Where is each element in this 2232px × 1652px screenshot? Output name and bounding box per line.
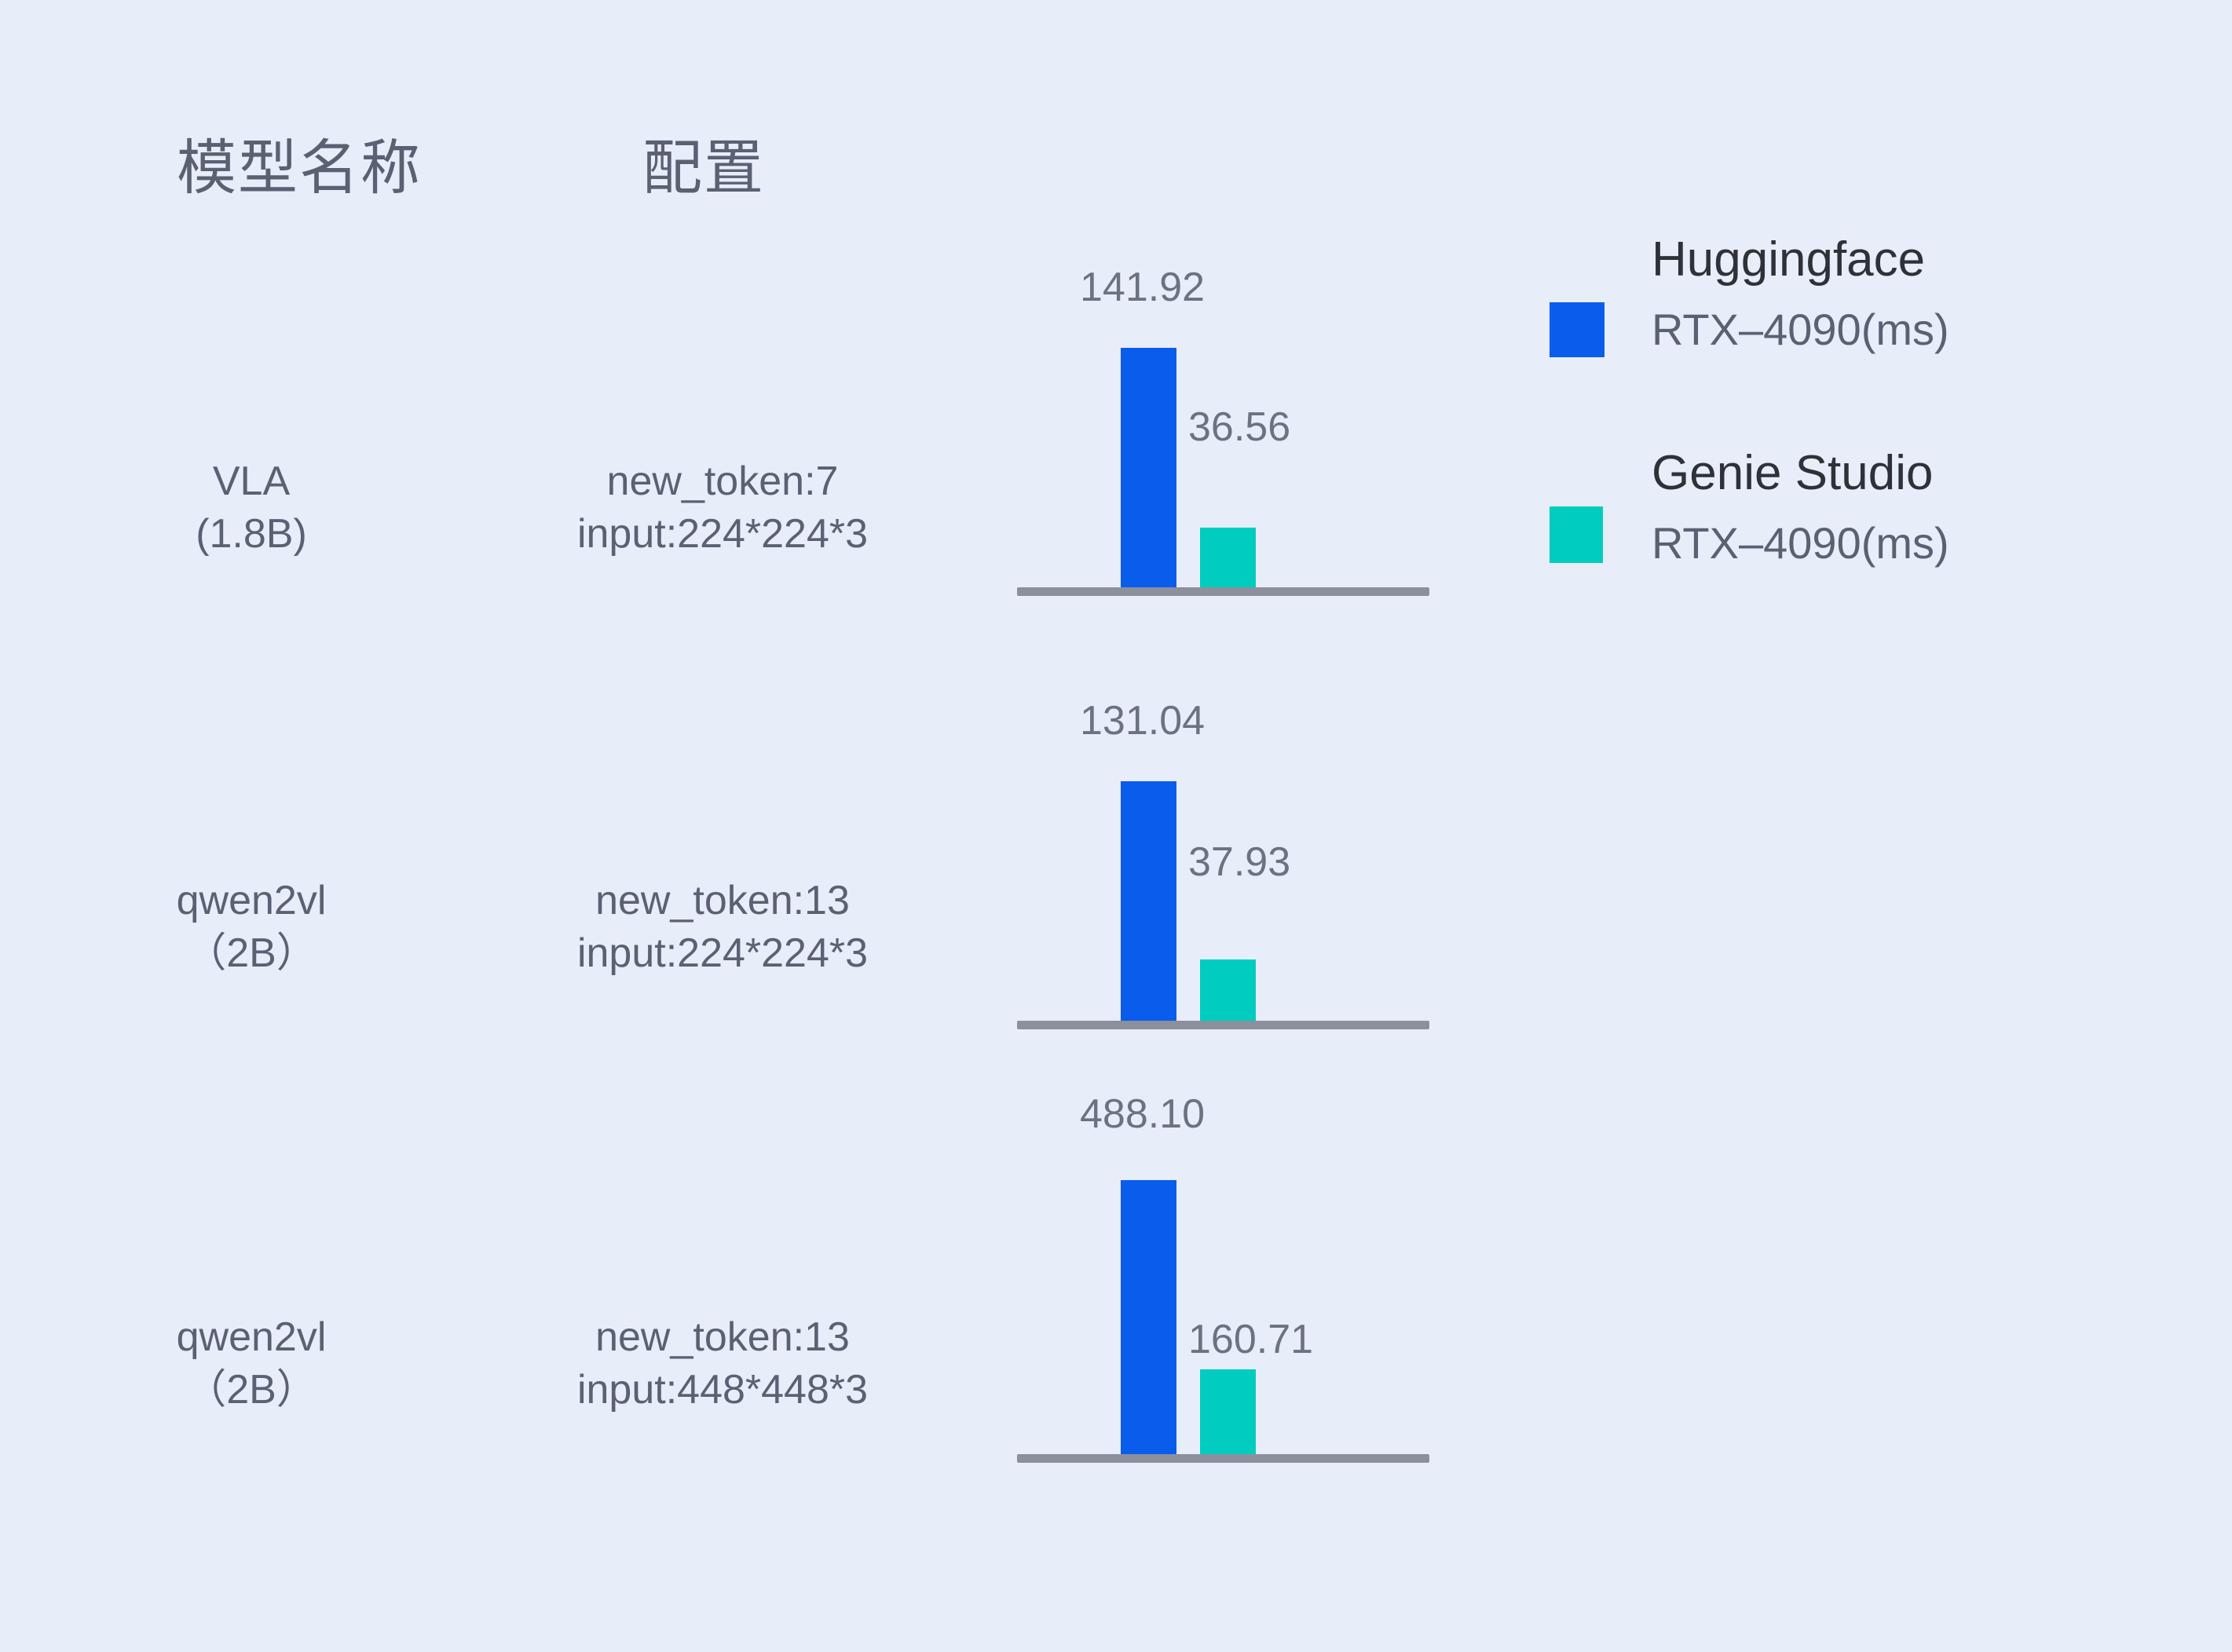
row-model-name: VLA (1.8B): [134, 455, 369, 560]
bar-huggingface[interactable]: [1121, 1180, 1176, 1462]
bar-genie-studio[interactable]: [1200, 959, 1256, 1021]
row-config: new_token:13 input:448*448*3: [440, 1311, 1005, 1416]
axis-baseline: [1017, 587, 1429, 596]
row-bar-panel: 131.04 37.93: [1017, 693, 1433, 1054]
teal-square-swatch-icon: [1550, 506, 1603, 563]
bar-huggingface[interactable]: [1121, 781, 1176, 1021]
bar-huggingface[interactable]: [1121, 348, 1176, 587]
row-bar-panel: 141.92 36.56: [1017, 259, 1433, 620]
header-config: 配置: [642, 118, 765, 220]
comparison-row: qwen2vl （2B） new_token:13 input:448*448*…: [0, 1091, 2232, 1484]
bar-value-label-genie-studio: 36.56: [1188, 407, 1290, 448]
row-config: new_token:7 input:224*224*3: [440, 455, 1005, 560]
bar-value-label-genie-studio: 160.71: [1188, 1319, 1313, 1360]
legend-title: Huggingface: [1652, 236, 1925, 284]
bar-value-label-huggingface: 131.04: [1080, 700, 1205, 741]
benchmark-comparison-chart: 模型名称 配置 VLA (1.8B) new_token:7 input:224…: [0, 0, 2232, 1652]
legend-subtitle: RTX–4090(ms): [1652, 308, 1949, 352]
bar-value-label-genie-studio: 37.93: [1188, 842, 1290, 883]
row-bar-panel: 488.10 160.71: [1017, 1091, 1433, 1484]
row-model-name: qwen2vl （2B）: [134, 1311, 369, 1416]
bar-value-label-huggingface: 488.10: [1080, 1094, 1205, 1135]
comparison-row: qwen2vl （2B） new_token:13 input:224*224*…: [0, 693, 2232, 1054]
column-headers: 模型名称 配置: [0, 118, 2232, 220]
legend-title: Genie Studio: [1652, 449, 1933, 498]
header-model-name: 模型名称: [177, 118, 422, 220]
blue-square-swatch-icon: [1550, 302, 1604, 357]
row-model-name: qwen2vl （2B）: [134, 875, 369, 979]
axis-baseline: [1017, 1454, 1429, 1463]
bar-genie-studio[interactable]: [1200, 528, 1256, 587]
axis-baseline: [1017, 1021, 1429, 1029]
bar-genie-studio[interactable]: [1200, 1369, 1256, 1458]
legend-subtitle: RTX–4090(ms): [1652, 521, 1949, 565]
row-config: new_token:13 input:224*224*3: [440, 875, 1005, 979]
bar-value-label-huggingface: 141.92: [1080, 267, 1205, 308]
